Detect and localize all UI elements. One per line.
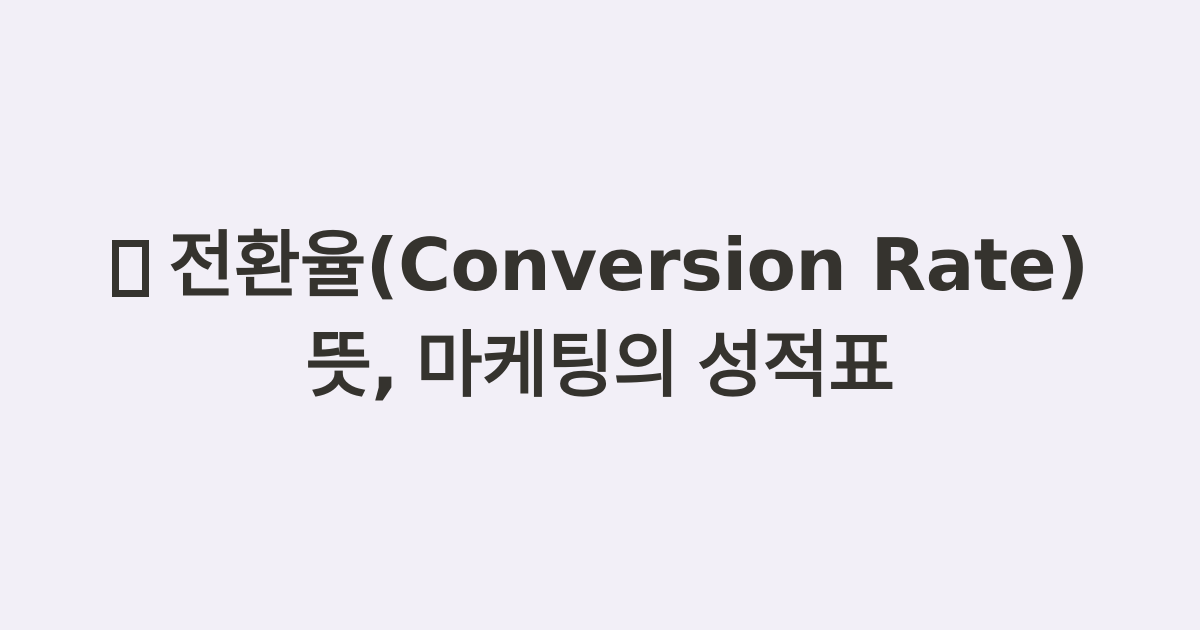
missing-glyph-box-icon <box>112 240 149 297</box>
title-line-2-word-3: 성적표 <box>697 323 894 407</box>
title-line-1: 전환율(Conversion Rate) <box>70 215 1130 315</box>
title-line-1-text: 전환율(Conversion Rate) <box>169 223 1089 307</box>
title-block: 전환율(Conversion Rate) 뜻,마케팅의성적표 <box>50 215 1150 415</box>
title-line-2-word-2: 마케팅의 <box>416 323 679 407</box>
title-line-2: 뜻,마케팅의성적표 <box>70 315 1130 415</box>
title-line-2-word-1: 뜻, <box>306 323 399 407</box>
page-title: 전환율(Conversion Rate) 뜻,마케팅의성적표 <box>70 215 1130 415</box>
og-card: 전환율(Conversion Rate) 뜻,마케팅의성적표 <box>0 0 1200 630</box>
